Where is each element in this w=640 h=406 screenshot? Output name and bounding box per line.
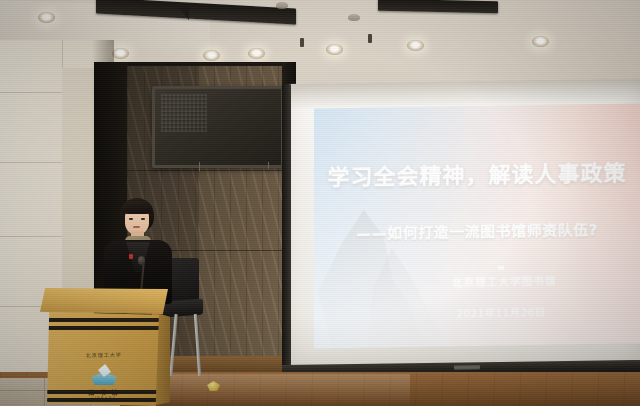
podium-trim-stripe <box>47 326 159 330</box>
ceiling-vent-corner <box>178 6 189 20</box>
ceiling-downlight <box>407 40 424 51</box>
speaker-badge <box>129 254 133 259</box>
ceiling-downlight <box>532 36 549 47</box>
chair-leg <box>194 314 201 376</box>
smoke-detector-icon <box>276 2 288 9</box>
ceiling-downlight <box>203 50 220 61</box>
smoke-detector-icon <box>348 14 360 21</box>
speaker-mouth <box>133 226 140 228</box>
ceiling-downlight <box>326 44 343 55</box>
screen-brand-label <box>454 365 480 369</box>
podium-front-panel: 北京理工大学 图 书 馆 LIBRARY <box>47 312 159 406</box>
ceiling-downlight <box>38 12 55 23</box>
wall-mounted-display <box>152 86 284 168</box>
speaker-eye <box>141 218 145 220</box>
ceiling-spotlight-arm <box>300 38 304 47</box>
chair-leg <box>169 314 177 376</box>
slide-bullet-marker <box>498 266 504 270</box>
library-book-emblem-icon <box>91 364 117 386</box>
wood-panel-seam <box>127 170 294 171</box>
display-cable <box>199 162 200 171</box>
podium-trim-stripe <box>47 318 159 322</box>
ceiling-spotlight-arm <box>368 34 372 43</box>
microphone-icon <box>138 256 145 265</box>
presentation-slide: 学习全会精神，解读人事政策 ——如何打造一流图书馆师资队伍? 北京理工大学图书馆… <box>314 103 640 348</box>
podium: 北京理工大学 图 书 馆 LIBRARY <box>40 288 168 406</box>
projection-screen-surface: 学习全会精神，解读人事政策 ——如何打造一流图书馆师资队伍? 北京理工大学图书馆… <box>289 78 640 367</box>
ceiling-downlight <box>112 48 129 59</box>
podium-emblem-english-label: LIBRARY <box>71 396 137 400</box>
podium-desktop <box>40 288 168 314</box>
ceiling-downlight <box>248 48 265 59</box>
speaker-eye <box>129 218 133 220</box>
slide-title: 学习全会精神，解读人事政策 <box>314 155 640 192</box>
projection-screen: 学习全会精神，解读人事政策 ——如何打造一流图书馆师资队伍? 北京理工大学图书馆… <box>282 84 640 380</box>
lecture-hall-photo: 学习全会精神，解读人事政策 ——如何打造一流图书馆师资队伍? 北京理工大学图书馆… <box>0 0 640 406</box>
screen-frame-left <box>282 84 291 376</box>
speaker-fringe <box>121 201 153 214</box>
floor-reflection <box>150 374 410 406</box>
display-cable <box>268 162 269 169</box>
